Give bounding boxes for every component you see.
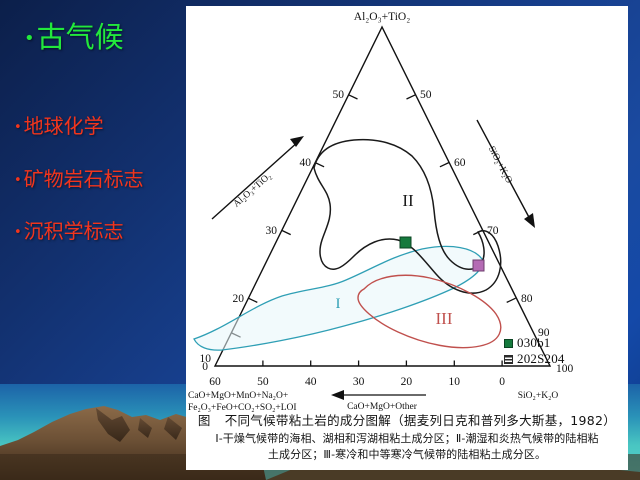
- sidebar-item-geochemistry[interactable]: •地球化学: [14, 110, 104, 139]
- right-axis-tick-labels: 50 60 70 80 90: [420, 89, 550, 339]
- bottom-axis-ticks: [263, 361, 502, 367]
- svg-text:0: 0: [499, 376, 505, 388]
- bullet-icon: •: [14, 173, 22, 188]
- svg-text:20: 20: [233, 293, 245, 305]
- region-label-II: II: [402, 191, 414, 210]
- caption-line-1: Ⅰ-干燥气候带的海相、湖相和泻湖相粘土成分区；Ⅱ-潮湿和炎热气候带的陆相粘: [186, 431, 628, 447]
- left-axis-ticks: [248, 95, 357, 303]
- slide-canvas: •古气候 •地球化学 •矿物岩石标志 •沉积学标志 Al₂O₃+TiO₂: [0, 0, 640, 480]
- bottom-axis-center-label: CaO+MgO+Other: [347, 402, 418, 412]
- right-axis-label: SiO₂+K₂O: [486, 145, 514, 186]
- figure-panel: Al₂O₃+TiO₂ 50 40 30 20 10: [186, 6, 628, 470]
- region-label-III: III: [436, 309, 453, 328]
- figure-caption: 图不同气候带粘土岩的成分图解（据麦列日克和普列多大斯基，1982） Ⅰ-干燥气候…: [186, 412, 628, 463]
- caption-title: 不同气候带粘土岩的成分图解（据麦列日克和普列多大斯基，1982）: [225, 413, 616, 428]
- legend-swatch-icon: [504, 355, 513, 364]
- sidebar-item-mineral-rock[interactable]: •矿物岩石标志: [14, 163, 144, 192]
- bottom-axis-left-label: CaO+MgO+MnO+Na₂O+ Fe₂O₃+FeO+CO₂+SO₂+LOI: [188, 391, 297, 413]
- sidebar-item-label: 地球化学: [24, 114, 104, 138]
- svg-text:10: 10: [449, 376, 461, 388]
- svg-text:30: 30: [266, 225, 278, 237]
- sidebar-item-label: 沉积学标志: [24, 219, 124, 243]
- bottom-axis-left-end: 0: [202, 361, 208, 373]
- svg-text:50: 50: [333, 89, 345, 101]
- svg-text:CaO+MgO+MnO+Na₂O+: CaO+MgO+MnO+Na₂O+: [188, 391, 288, 401]
- svg-text:20: 20: [401, 376, 413, 388]
- data-point-030b1[interactable]: [400, 237, 411, 248]
- svg-text:50: 50: [257, 376, 269, 388]
- left-axis-arrow: [212, 136, 304, 219]
- bottom-axis-center-arrow: [331, 390, 426, 400]
- svg-text:40: 40: [305, 376, 317, 388]
- ternary-diagram: Al₂O₃+TiO₂ 50 40 30 20 10: [186, 6, 628, 470]
- sidebar-item-sedimentology[interactable]: •沉积学标志: [14, 215, 124, 244]
- page-title: •古气候: [24, 22, 124, 54]
- region-label-I: I: [336, 296, 341, 312]
- svg-text:50: 50: [420, 89, 432, 101]
- legend-item-030b1[interactable]: 030b1: [504, 335, 565, 351]
- legend-label: 202S204: [517, 351, 565, 367]
- caption-title-prefix: 图: [198, 413, 211, 428]
- bullet-icon: •: [14, 120, 22, 135]
- headline-bullet: •: [24, 28, 35, 49]
- svg-text:60: 60: [454, 157, 466, 169]
- legend-item-202S204[interactable]: 202S204: [504, 351, 565, 367]
- apex-label: Al₂O₃+TiO₂: [354, 11, 410, 23]
- legend: 030b1 202S204: [504, 335, 565, 367]
- svg-text:40: 40: [300, 157, 312, 169]
- data-point-202S204[interactable]: [473, 260, 484, 271]
- svg-text:30: 30: [353, 376, 365, 388]
- sidebar-item-label: 矿物岩石标志: [24, 167, 144, 191]
- caption-line-2: 土成分区；Ⅲ-寒冷和中等寒冷气候带的陆相粘土成分区。: [186, 447, 628, 463]
- svg-text:80: 80: [521, 293, 533, 305]
- bullet-icon: •: [14, 225, 22, 240]
- svg-text:60: 60: [209, 376, 221, 388]
- bottom-axis-tick-labels: 60 50 40 30 20 10 0: [209, 376, 505, 388]
- bottom-axis-right-label: SiO₂+K₂O: [518, 391, 559, 401]
- caption-title-row: 图不同气候带粘土岩的成分图解（据麦列日克和普列多大斯基，1982）: [186, 412, 628, 431]
- legend-swatch-icon: [504, 339, 513, 348]
- legend-label: 030b1: [517, 335, 551, 351]
- headline-text: 古气候: [37, 20, 124, 54]
- left-axis-label: Al₂O₃+TiO₂: [232, 171, 274, 209]
